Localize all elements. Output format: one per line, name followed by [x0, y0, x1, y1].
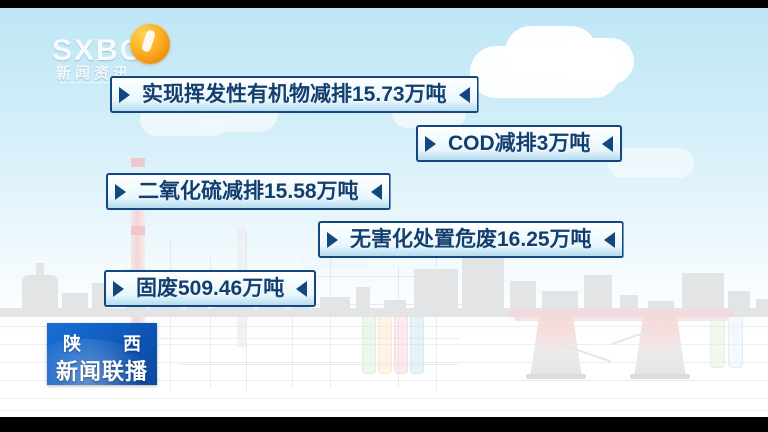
tank-icon — [378, 308, 392, 374]
stat-banner: 实现挥发性有机物减排15.73万吨 — [110, 76, 479, 113]
smokestack-band — [131, 158, 145, 167]
stat-banner: 固废509.46万吨 — [104, 270, 316, 307]
letterbox-top — [0, 0, 768, 8]
channel-badge-region: 陕 西 — [47, 330, 157, 356]
stat-banner: 无害化处置危废16.25万吨 — [318, 221, 624, 258]
stat-banner-label: COD减排3万吨 — [448, 133, 590, 154]
channel-badge: 陕 西 新闻联播 — [47, 323, 157, 385]
arrow-left-icon — [425, 136, 436, 152]
video-frame: SXBC 新闻资讯 实现挥发性有机物减排15.73万吨 COD减排3万吨 二氧化… — [0, 8, 768, 417]
arrow-right-icon — [296, 281, 307, 297]
channel-badge-program: 新闻联播 — [47, 354, 157, 385]
arrow-left-icon — [119, 87, 130, 103]
letterbox-bottom — [0, 417, 768, 432]
cooling-tower — [634, 315, 686, 377]
arrow-right-icon — [604, 232, 615, 248]
cloud-icon — [556, 38, 634, 84]
arrow-right-icon — [459, 87, 470, 103]
stat-banner-label: 无害化处置危废16.25万吨 — [350, 229, 592, 250]
arrow-left-icon — [115, 184, 126, 200]
tank-icon — [394, 308, 408, 374]
stat-banner-label: 二氧化硫减排15.58万吨 — [138, 181, 359, 202]
arrow-right-icon — [371, 184, 382, 200]
station-logo: SXBC 新闻资讯 — [52, 22, 192, 80]
arrow-right-icon — [602, 136, 613, 152]
cooling-tower — [530, 315, 582, 377]
tank-icon — [410, 308, 424, 374]
tank-icon — [362, 308, 376, 374]
stat-banner: COD减排3万吨 — [416, 125, 622, 162]
stat-banner-label: 固废509.46万吨 — [136, 278, 284, 299]
broadcast-screenshot: SXBC 新闻资讯 实现挥发性有机物减排15.73万吨 COD减排3万吨 二氧化… — [0, 0, 768, 432]
arrow-left-icon — [327, 232, 338, 248]
stat-banner-label: 实现挥发性有机物减排15.73万吨 — [142, 84, 447, 105]
stat-banner: 二氧化硫减排15.58万吨 — [106, 173, 391, 210]
arrow-left-icon — [113, 281, 124, 297]
